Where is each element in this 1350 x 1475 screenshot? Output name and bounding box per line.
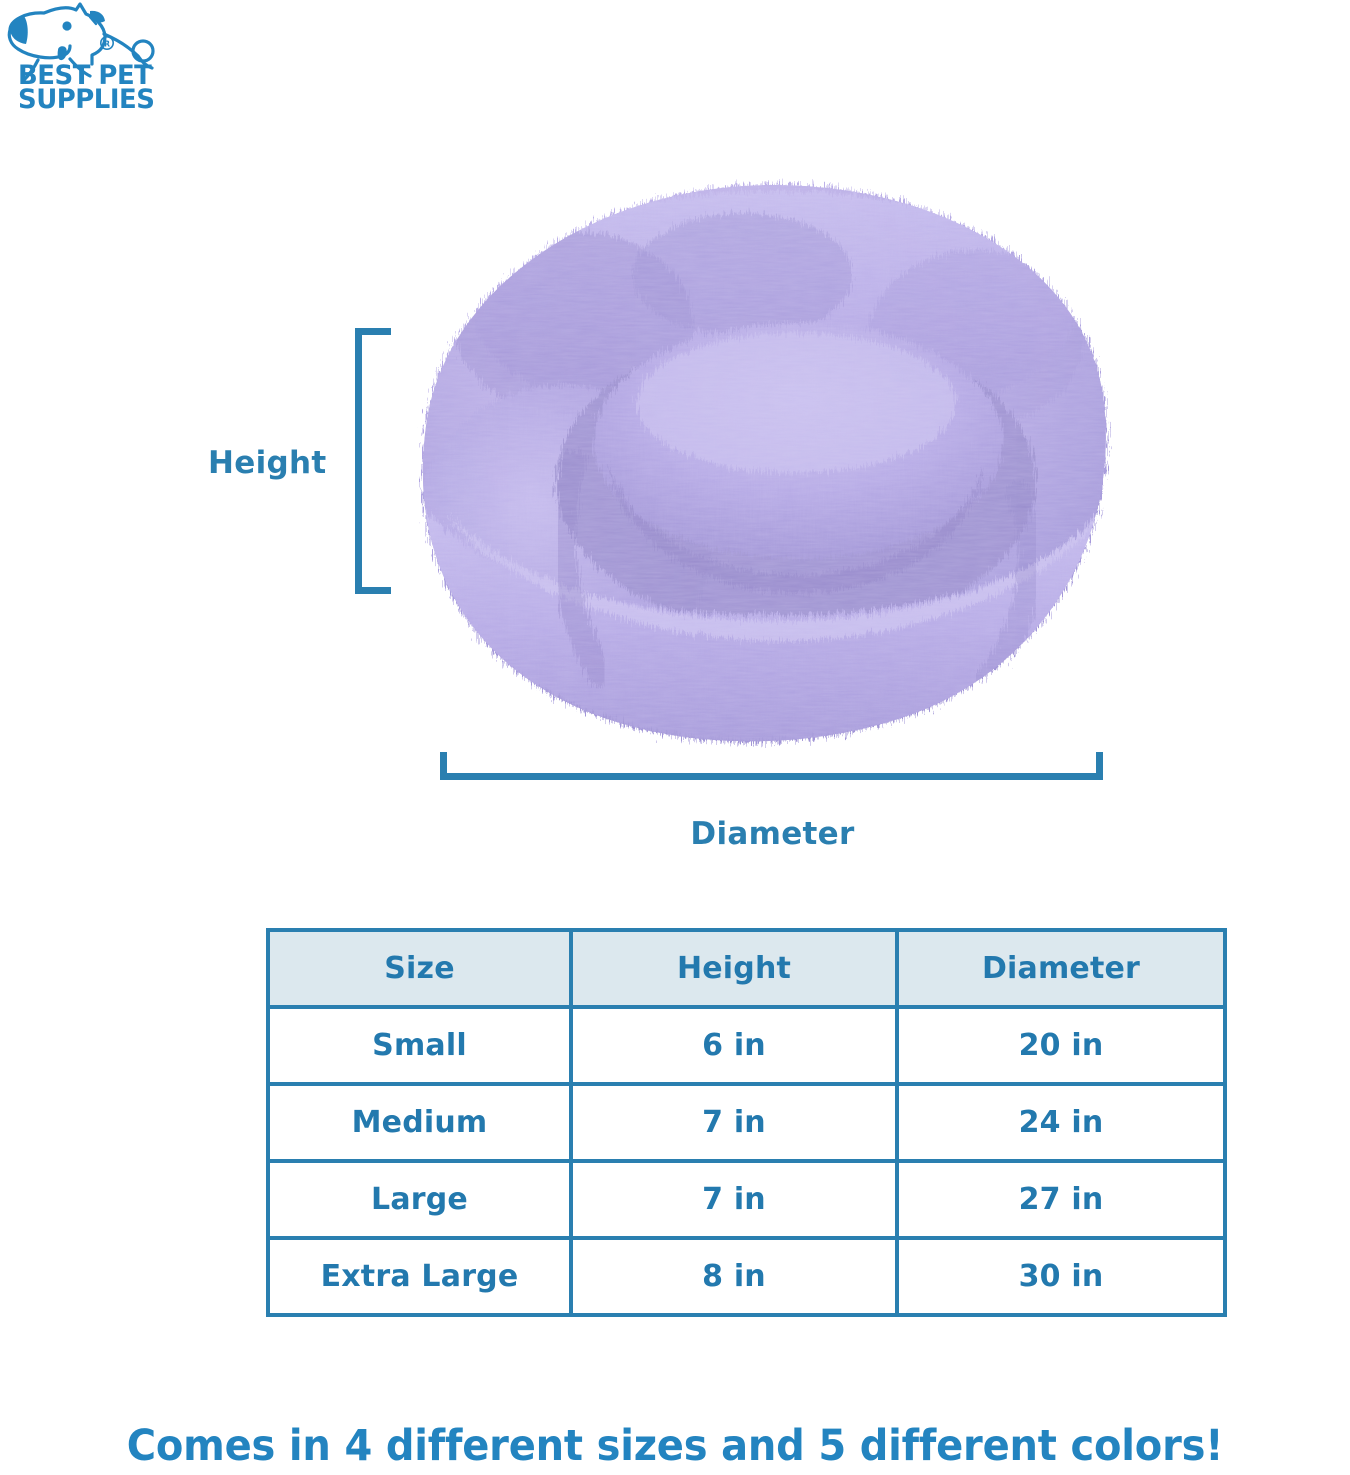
table-row: Small 6 in 20 in xyxy=(268,1007,1225,1084)
cell-size: Small xyxy=(268,1007,571,1084)
height-measure-label: Height xyxy=(208,445,326,481)
cell-diameter: 30 in xyxy=(897,1238,1225,1315)
cell-diameter: 20 in xyxy=(897,1007,1225,1084)
size-table: Size Height Diameter Small 6 in 20 in Me… xyxy=(266,928,1227,1317)
cell-diameter: 27 in xyxy=(897,1161,1225,1238)
cell-size: Medium xyxy=(268,1084,571,1161)
table-row: Large 7 in 27 in xyxy=(268,1161,1225,1238)
size-chart: Size Height Diameter Small 6 in 20 in Me… xyxy=(266,928,1223,1317)
cell-height: 7 in xyxy=(571,1084,897,1161)
column-header-height: Height xyxy=(571,930,897,1007)
column-header-size: Size xyxy=(268,930,571,1007)
diameter-measure-label: Diameter xyxy=(0,816,1350,852)
cell-height: 7 in xyxy=(571,1161,897,1238)
pet-bed-photo xyxy=(378,163,1168,763)
table-row: Extra Large 8 in 30 in xyxy=(268,1238,1225,1315)
table-header-row: Size Height Diameter xyxy=(268,930,1225,1007)
column-header-diameter: Diameter xyxy=(897,930,1225,1007)
footer-tagline: Comes in 4 different sizes and 5 differe… xyxy=(47,1421,1303,1471)
cell-height: 6 in xyxy=(571,1007,897,1084)
cell-size: Large xyxy=(268,1161,571,1238)
diameter-measure-bracket xyxy=(440,752,1103,780)
cell-size: Extra Large xyxy=(268,1238,571,1315)
table-row: Medium 7 in 24 in xyxy=(268,1084,1225,1161)
pet-bed-illustration xyxy=(378,163,1168,763)
product-image-area: Height Diameter xyxy=(0,0,1350,900)
height-measure-bracket xyxy=(355,328,391,594)
cell-diameter: 24 in xyxy=(897,1084,1225,1161)
cell-height: 8 in xyxy=(571,1238,897,1315)
